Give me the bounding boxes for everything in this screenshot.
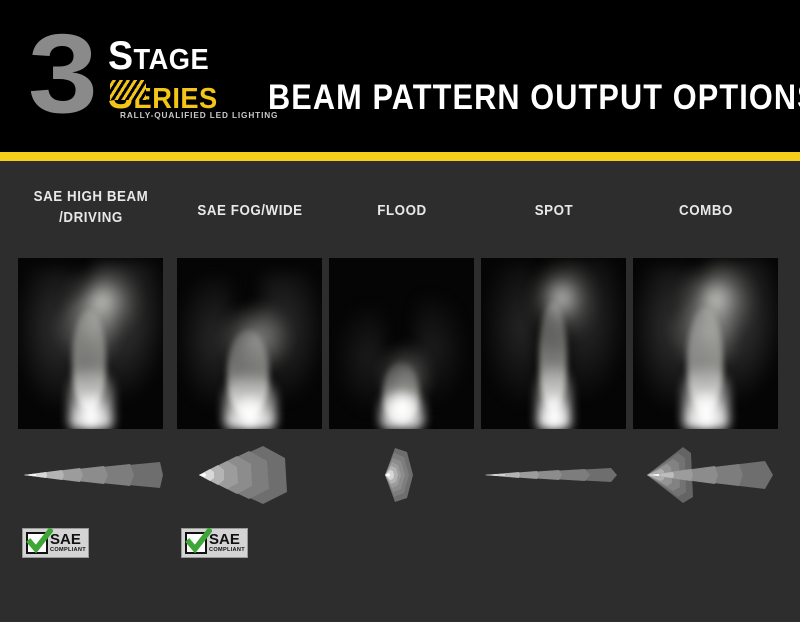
logo-numeral-3: 3 [28,18,93,130]
column-label: SPOT [476,201,632,222]
column-label: SAE HIGH BEAM /DRIVING [13,187,169,229]
beam-column-combo: COMBO [633,161,778,622]
beam-column-sae-fog-wide: SAE FOG/WIDE [177,161,322,622]
sae-badge-title: SAE [209,532,245,547]
beam-photo-sae-high-beam-driving [18,258,163,429]
beam-column-sae-high-beam-driving: SAE HIGH BEAM /DRIVING [18,161,163,622]
beam-diagram-sae-high-beam-driving [18,444,163,506]
logo-stage-capital: S [108,34,134,78]
column-label-line2: /DRIVING [59,210,123,226]
checkbox-icon [26,532,48,554]
logo-wordmark: STAGE SERIES [108,38,268,114]
yellow-divider-rule [0,152,800,161]
beam-photo-spot [481,258,626,429]
sae-compliant-badge: SAE COMPLIANT [22,528,89,558]
beam-photo-sae-fog-wide [177,258,322,429]
checkbox-icon [185,532,207,554]
beam-photo-flood [329,258,474,429]
beam-column-flood: FLOOD [329,161,474,622]
logo-tagline: RALLY-QUALIFIED LED LIGHTING [120,110,278,120]
logo-stage-word: STAGE [108,38,258,75]
column-label-line1: SPOT [535,203,574,219]
column-label-line1: FLOOD [377,203,426,219]
column-label: SAE FOG/WIDE [172,201,328,222]
beam-options-grid: SAE HIGH BEAM /DRIVING [0,161,800,622]
logo-diagonal-stripes-icon [110,80,146,100]
column-label-line1: SAE HIGH BEAM [34,189,149,205]
beam-diagram-combo [633,444,778,506]
beam-diagram-sae-fog-wide [177,444,322,506]
beam-diagram-flood [329,444,474,506]
column-label: COMBO [628,201,784,222]
beam-diagram-spot [481,444,626,506]
sae-badge-subtitle: COMPLIANT [50,548,86,554]
sae-badge-subtitle: COMPLIANT [209,548,245,554]
beam-pattern-poster: 3 STAGE SERIES RALLY-QUALIFIED LED LIGHT… [0,0,800,622]
page-title: BEAM PATTERN OUTPUT OPTIONS [268,76,800,117]
logo-stage-rest: TAGE [134,44,210,76]
column-label-line1: COMBO [679,203,733,219]
stage-series-logo: 3 STAGE SERIES RALLY-QUALIFIED LED LIGHT… [22,22,262,134]
beam-column-spot: SPOT [481,161,626,622]
beam-photo-combo [633,258,778,429]
sae-badge-title: SAE [50,532,86,547]
poster-header: 3 STAGE SERIES RALLY-QUALIFIED LED LIGHT… [0,0,800,152]
column-label-line1: SAE FOG/WIDE [197,203,302,219]
column-label: FLOOD [324,201,480,222]
sae-compliant-badge: SAE COMPLIANT [181,528,248,558]
